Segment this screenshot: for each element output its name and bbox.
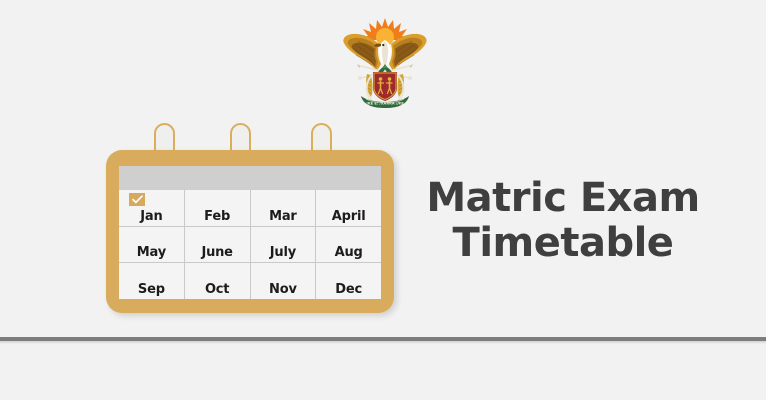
calendar-month-cell-july[interactable]: July [251,227,316,263]
month-label: Dec [335,283,362,296]
month-label: Sep [138,283,165,296]
calendar-month-cell-dec[interactable]: Dec [316,263,381,299]
calendar-month-cell-sep[interactable]: Sep [119,263,184,299]
calendar-illustration: Jan Feb Mar April May Jun [106,123,394,313]
calendar-header-bar [119,166,381,190]
page-title: Matric Exam Timetable [413,176,713,266]
calendar-month-cell-oct[interactable]: Oct [185,263,250,299]
south-african-coat-of-arms: !KE E: /XARRA //KE [341,4,429,108]
calendar-month-cell-mar[interactable]: Mar [251,190,316,226]
calendar-month-cell-june[interactable]: June [185,227,250,263]
month-label: Nov [269,283,297,296]
month-label: July [270,246,296,259]
coat-of-arms-icon: !KE E: /XARRA //KE [341,4,429,108]
calendar-month-cell-aug[interactable]: Aug [316,227,381,263]
calendar-month-cell-feb[interactable]: Feb [185,190,250,226]
check-icon [129,193,145,206]
calendar-month-cell-jan[interactable]: Jan [119,190,184,226]
month-label: Oct [205,283,229,296]
month-label: Aug [335,246,363,259]
motto-text: !KE E: /XARRA //KE [366,101,404,105]
calendar-page: Jan Feb Mar April May Jun [119,166,381,299]
title-line-1: Matric Exam [413,176,713,221]
month-label: Feb [204,210,230,223]
shield-with-khoisan-figures [373,72,397,101]
month-label: Jan [140,210,162,223]
calendar-month-grid: Jan Feb Mar April May Jun [119,190,381,299]
title-line-2: Timetable [413,221,713,266]
month-label: June [201,246,232,259]
month-label: April [332,210,366,223]
calendar-month-cell-april[interactable]: April [316,190,381,226]
calendar-month-cell-may[interactable]: May [119,227,184,263]
calendar-month-cell-nov[interactable]: Nov [251,263,316,299]
month-label: Mar [269,210,297,223]
divider-shadow [0,341,766,344]
calendar-frame: Jan Feb Mar April May Jun [106,150,394,313]
month-label: May [137,246,166,259]
banner-graphic: !KE E: /XARRA //KE [0,0,766,400]
